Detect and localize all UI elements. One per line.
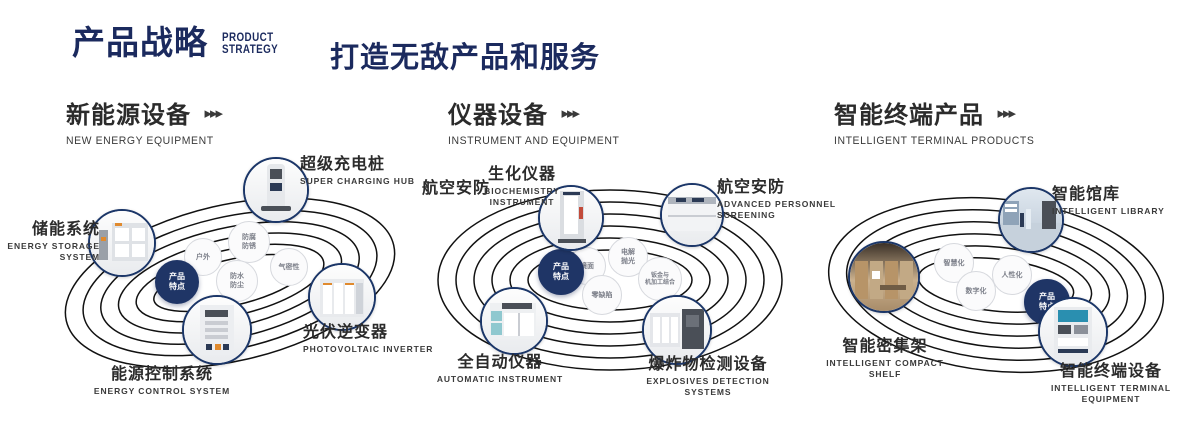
section-title-instrument: 仪器设备 ▸▸▸ INSTRUMENT AND EQUIPMENT [448, 95, 628, 147]
label-en: AUTOMATIC INSTRUMENT [430, 374, 570, 385]
label-en: ENERGY CONTROL SYSTEM [82, 386, 242, 397]
section-title-cn: 智能终端产品 [834, 95, 984, 130]
label-cn: 超级充电桩 [300, 150, 415, 174]
label-intelligent-library: 智能馆库 INTELLIGENT LIBRARY [1052, 180, 1165, 217]
feature-bubble: 人性化 [992, 255, 1032, 295]
page-title-en: PRODUCT STRATEGY [222, 31, 278, 59]
chevron-right-icon: ▸▸▸ [204, 104, 221, 122]
label-en: INTELLIGENT TERMINAL EQUIPMENT [1022, 383, 1200, 404]
page-title: 产品战略 [72, 26, 208, 59]
core-bubble-line2: 特点 [169, 282, 185, 292]
label-cn: 爆炸物检测设备 [622, 350, 794, 374]
node-automatic-instrument[interactable] [480, 287, 548, 355]
feature-bubble: 气密性 [270, 248, 308, 286]
label-intelligent-terminal-equipment: 智能终端设备 INTELLIGENT TERMINAL EQUIPMENT [1022, 357, 1200, 404]
section-title-en: INSTRUMENT AND EQUIPMENT [448, 135, 619, 147]
core-bubble-line1: 产品 [553, 262, 569, 272]
section-title-cn: 仪器设备 [448, 95, 548, 130]
label-cn: 生化仪器 [462, 160, 582, 184]
chevron-right-icon: ▸▸▸ [561, 104, 578, 122]
label-en: BIOCHEMISTRY INSTRUMENT [462, 186, 582, 207]
label-energy-control-system: 能源控制系统 ENERGY CONTROL SYSTEM [82, 360, 242, 397]
product-strategy-poster: 产品战略 PRODUCT STRATEGY 打造无敌产品和服务 新能源设备 ▸▸… [0, 0, 1200, 422]
section-title-en: NEW ENERGY EQUIPMENT [66, 135, 214, 147]
section-title-en: INTELLIGENT TERMINAL PRODUCTS [834, 135, 1034, 147]
label-energy-storage-system: 储能系统 ENERGY STORAGE SYSTEM [0, 215, 100, 262]
core-bubble-line1: 产品 [169, 272, 185, 282]
node-energy-control-system[interactable] [182, 295, 252, 365]
section-title-intelligent-terminal: 智能终端产品 ▸▸▸ INTELLIGENT TERMINAL PRODUCTS [834, 95, 1045, 147]
page-slogan: 打造无敌产品和服务 [330, 34, 600, 76]
core-bubble-line2: 特点 [553, 272, 569, 282]
node-advanced-personnel-screening[interactable] [660, 183, 724, 247]
label-intelligent-compact-shelf: 智能密集架 INTELLIGENT COMPACT SHELF [812, 332, 958, 379]
section-title-cn: 新能源设备 [66, 95, 191, 130]
page-header: 产品战略 PRODUCT STRATEGY [72, 26, 290, 59]
label-cn: 智能终端设备 [1022, 357, 1200, 381]
feature-bubble: 数字化 [956, 271, 996, 311]
label-cn: 能源控制系统 [82, 360, 242, 384]
label-cn: 智能馆库 [1052, 180, 1165, 204]
label-cn: 智能密集架 [812, 332, 958, 356]
label-cn: 储能系统 [0, 215, 100, 239]
label-en: EXPLOSIVES DETECTION SYSTEMS [622, 376, 794, 397]
feature-bubble: 防腐 防锈 [228, 221, 270, 263]
label-en: ENERGY STORAGE SYSTEM [0, 241, 100, 262]
label-en: INTELLIGENT LIBRARY [1052, 206, 1165, 217]
node-intelligent-compact-shelf[interactable] [848, 241, 920, 313]
feature-bubble: 零缺陷 [582, 275, 622, 315]
label-en: INTELLIGENT COMPACT SHELF [812, 358, 958, 379]
label-explosives-detection-systems: 爆炸物检测设备 EXPLOSIVES DETECTION SYSTEMS [622, 350, 794, 397]
chevron-right-icon: ▸▸▸ [997, 104, 1014, 122]
label-biochemistry-instrument: 生化仪器 BIOCHEMISTRY INSTRUMENT [462, 160, 582, 207]
label-cn: 全自动仪器 [430, 348, 570, 372]
label-automatic-instrument: 全自动仪器 AUTOMATIC INSTRUMENT [430, 348, 570, 385]
section-title-new-energy: 新能源设备 ▸▸▸ NEW ENERGY EQUIPMENT [66, 95, 221, 147]
